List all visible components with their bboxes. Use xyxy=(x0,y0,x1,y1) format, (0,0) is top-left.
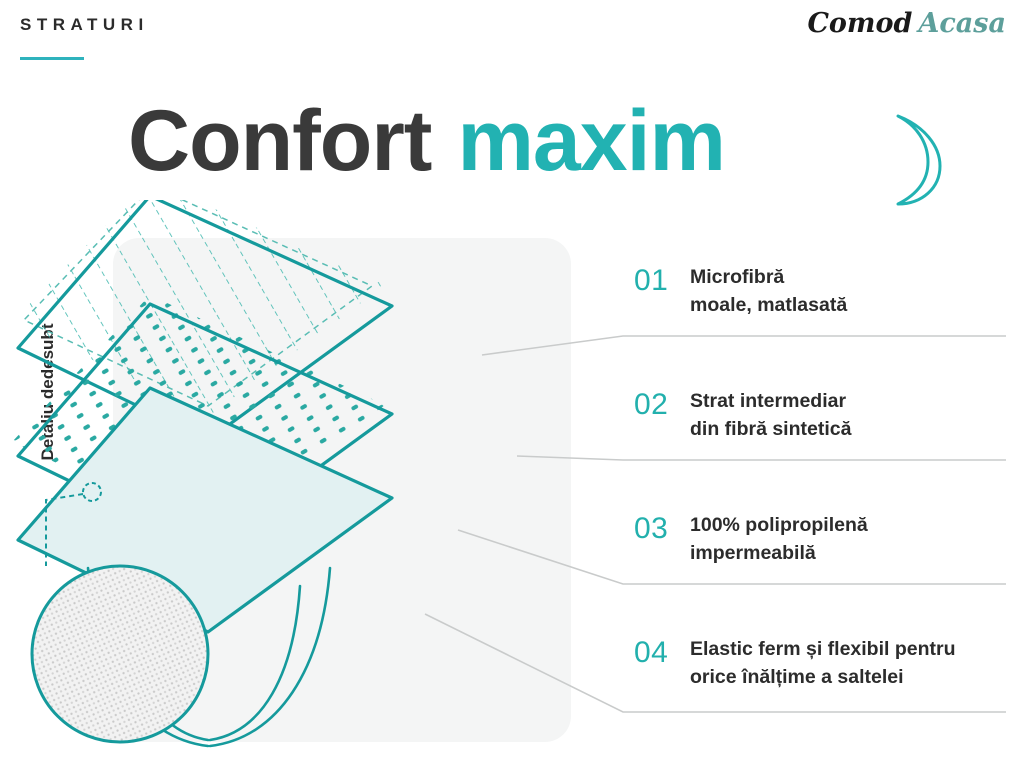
legend-item-03: 03 100% polipropilenă impermeabilă xyxy=(634,512,868,567)
legend-number-02: 02 xyxy=(634,388,690,422)
eyebrow-underline xyxy=(20,57,84,60)
page-title-part1: Confort xyxy=(128,93,431,189)
legend-text-03: 100% polipropilenă impermeabilă xyxy=(690,512,868,567)
legend-number-03: 03 xyxy=(634,512,690,546)
infographic-page: STRATURI ComodAcasa Confortmaxim Detaliu… xyxy=(0,0,1020,759)
legend-item-01: 01 Microfibră moale, matlasată xyxy=(634,264,847,319)
legend-text-01: Microfibră moale, matlasată xyxy=(690,264,847,319)
page-title-part2: maxim xyxy=(457,93,725,189)
crescent-moon-icon xyxy=(868,112,948,208)
brand-logo: ComodAcasa xyxy=(807,8,1006,39)
legend-number-04: 04 xyxy=(634,636,690,670)
legend-item-02: 02 Strat intermediar din fibră sintetică xyxy=(634,388,851,443)
fabric-detail-magnifier xyxy=(28,562,212,746)
section-eyebrow: STRATURI xyxy=(20,15,149,35)
legend-text-02: Strat intermediar din fibră sintetică xyxy=(690,388,851,443)
legend-number-01: 01 xyxy=(634,264,690,298)
brand-logo-part2: Acasa xyxy=(918,8,1006,39)
brand-logo-part1: Comod xyxy=(807,8,912,39)
page-title: Confortmaxim xyxy=(128,96,725,186)
legend-item-04: 04 Elastic ferm și flexibil pentru orice… xyxy=(634,636,956,691)
legend-text-04: Elastic ferm și flexibil pentru orice în… xyxy=(690,636,956,691)
